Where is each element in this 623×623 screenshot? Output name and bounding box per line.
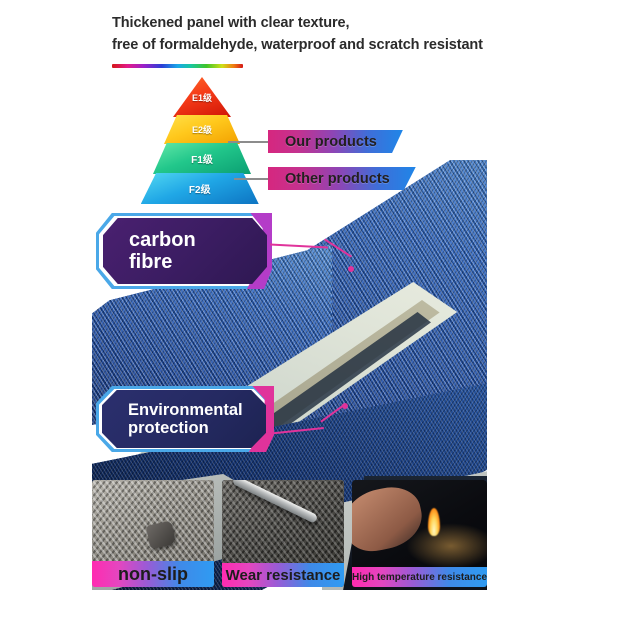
environmental-badge-line-1: Environmental [128, 401, 252, 419]
page-title-line-2: free of formaldehyde, waterproof and scr… [112, 34, 552, 56]
emission-grade-pyramid: E1级 E2级 F1级 F2级 [146, 77, 258, 202]
page-title: Thickened panel with clear texture, free… [112, 12, 552, 57]
pyramid-tier-f1-label: F1级 [153, 143, 251, 174]
pyramid-tier-e1-label: E1级 [173, 77, 231, 117]
metal-rod-prop [232, 480, 319, 524]
thumbnail-high-temperature-resistance: High temperature resistance [352, 480, 487, 587]
product-infographic: Thickened panel with clear texture, free… [0, 0, 623, 623]
environmental-protection-badge: Environmental protection [102, 390, 266, 448]
banner-other-products: Other products [268, 167, 416, 190]
leader-dot-carbon [348, 266, 354, 272]
thumbnail-non-slip-caption: non-slip [92, 561, 214, 587]
rainbow-divider [112, 64, 243, 68]
thumbnail-wear-resistance-caption: Wear resistance [222, 563, 344, 587]
pyramid-tier-e2-label: E2级 [164, 115, 240, 144]
thumbnail-high-temperature-caption: High temperature resistance [352, 567, 487, 587]
leader-dot-env [342, 403, 348, 409]
connector-line-other-products [234, 178, 270, 180]
carbon-fibre-badge-line-2: fibre [129, 251, 253, 273]
flame-glow [406, 523, 487, 569]
environmental-badge-line-2: protection [128, 419, 252, 437]
thumbnail-non-slip: non-slip [92, 480, 214, 587]
carbon-fibre-badge: carbon fibre [103, 218, 267, 284]
banner-our-products: Our products [268, 130, 403, 153]
flame-icon [428, 508, 440, 536]
thumbnail-wear-resistance: Wear resistance [222, 480, 344, 587]
page-title-line-1: Thickened panel with clear texture, [112, 12, 552, 34]
rubber-chip-prop [146, 520, 176, 549]
carbon-fibre-badge-line-1: carbon [129, 229, 253, 251]
connector-line-our-products [228, 141, 270, 143]
